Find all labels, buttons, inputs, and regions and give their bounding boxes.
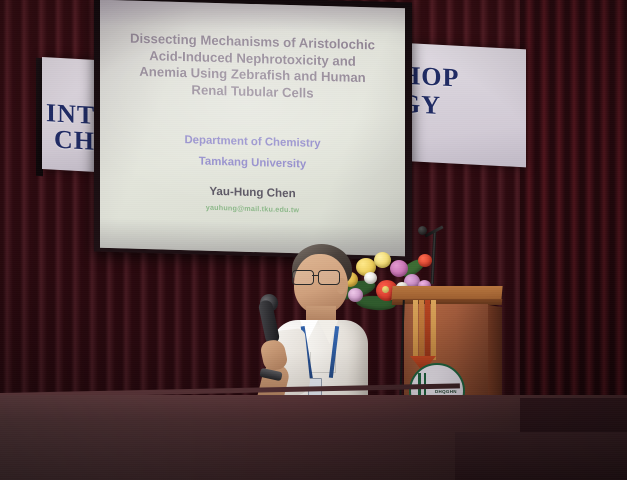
podium-stripe-1 (413, 300, 418, 360)
podium-stripe-4 (431, 300, 436, 360)
microphone-stand-head-icon (418, 226, 427, 235)
slide-author-name: Yau-Hung Chen (112, 182, 393, 203)
podium-stripe-2 (419, 300, 424, 360)
podium-top (391, 286, 502, 300)
presentation-slide: Dissecting Mechanisms of Aristolochic Ac… (100, 0, 405, 256)
projection-screen: Dissecting Mechanisms of Aristolochic Ac… (100, 0, 405, 256)
stage-curtain-right (520, 0, 627, 400)
slide-author-email: yauhung@mail.tku.edu.tw (112, 200, 393, 217)
slide-affiliation: Department of Chemistry Tamkang Universi… (112, 128, 393, 178)
conference-photo: INTE CHI HOP GY Dissecting Mechanisms of… (0, 0, 627, 480)
podium-stripe-3 (425, 300, 430, 360)
stage-step (455, 432, 627, 480)
podium-emblem-label: DHQGHN (435, 389, 457, 394)
speaker-glasses-icon (292, 270, 342, 283)
slide-title: Dissecting Mechanisms of Aristolochic Ac… (112, 30, 393, 104)
